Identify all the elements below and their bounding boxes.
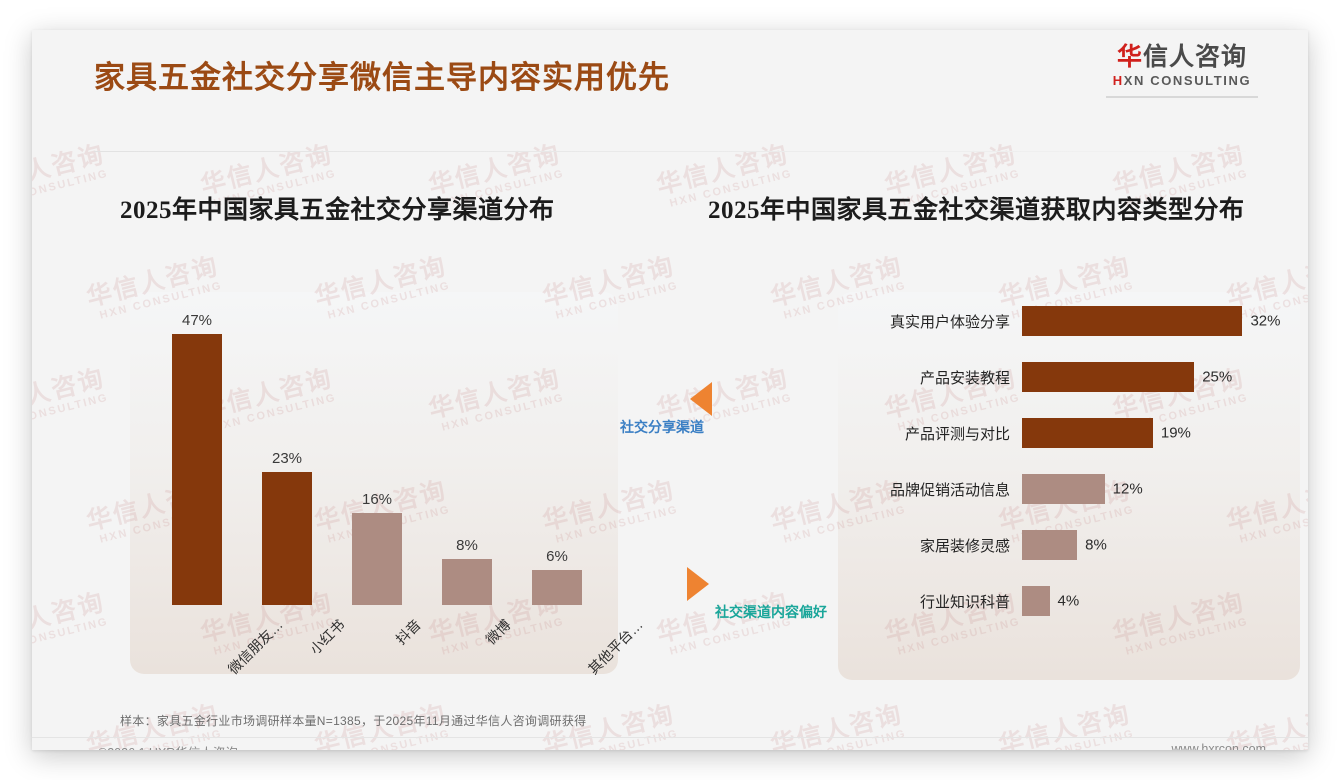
- column-category-label: 其他平台…: [584, 615, 648, 679]
- logo-underline: [1106, 96, 1258, 98]
- bar-row: 产品安装教程25%: [838, 362, 1300, 392]
- bar-track: 32%: [1022, 306, 1300, 336]
- footer-website: www.hxrcon.com: [1172, 742, 1266, 750]
- bar-value-label: 32%: [1250, 313, 1280, 330]
- column-category-label: 小红书: [305, 615, 349, 659]
- logo-en-rest: XN CONSULTING: [1124, 73, 1251, 88]
- column-value-label: 6%: [546, 548, 568, 565]
- column-chart-plot-area: 47%微信朋友…23%小红书16%抖音8%微博6%其他平台…: [152, 285, 602, 605]
- triangle-left-icon: [690, 382, 712, 416]
- column-value-label: 16%: [362, 491, 392, 508]
- column-category-label: 抖音: [391, 615, 425, 649]
- bar-value-label: 19%: [1161, 425, 1191, 442]
- bar-value-label: 8%: [1085, 537, 1107, 554]
- column-bar: [172, 334, 222, 605]
- column-bar-group: 16%: [352, 285, 402, 605]
- page-title: 家具五金社交分享微信主导内容实用优先: [94, 52, 670, 97]
- column-value-label: 8%: [456, 537, 478, 554]
- chart-title-left: 2025年中国家具五金社交分享渠道分布: [120, 190, 555, 226]
- bar-row: 真实用户体验分享32%: [838, 306, 1300, 336]
- footer-divider: [32, 737, 1308, 738]
- logo-cn-rest: 信人咨询: [1143, 43, 1247, 71]
- bar-fill: [1022, 530, 1077, 560]
- watermark-tile: 华信人咨询HXN CONSULTING: [766, 694, 908, 750]
- bar-category-label: 品牌促销活动信息: [838, 479, 1022, 500]
- column-bar: [442, 559, 492, 605]
- column-category-label: 微信朋友…: [224, 615, 288, 679]
- watermark-tile: 华信人咨询HXN CONSULTING: [994, 694, 1136, 750]
- logo-en-highlight: H: [1113, 73, 1124, 88]
- bar-track: 12%: [1022, 474, 1300, 504]
- column-value-label: 47%: [182, 312, 212, 329]
- bar-track: 19%: [1022, 418, 1300, 448]
- column-bar-group: 6%: [532, 285, 582, 605]
- slide-header: 家具五金社交分享微信主导内容实用优先 华信人咨询 HXN CONSULTING: [32, 30, 1308, 120]
- sample-footnote: 样本：家具五金行业市场调研样本量N=1385，于2025年11月通过华信人咨询调…: [120, 712, 586, 729]
- bar-fill: [1022, 586, 1050, 616]
- column-bar-group: 47%: [172, 285, 222, 605]
- bar-track: 4%: [1022, 586, 1300, 616]
- triangle-right-icon: [687, 567, 709, 601]
- bar-fill: [1022, 474, 1105, 504]
- footer-copyright: ©2026.1 HXR华信人咨询: [98, 742, 238, 750]
- company-logo: 华信人咨询 HXN CONSULTING: [1092, 44, 1272, 98]
- horizontal-bar-chart: 真实用户体验分享32%产品安装教程25%产品评测与对比19%品牌促销活动信息12…: [838, 306, 1300, 666]
- watermark-tile: 华信人咨询HXN CONSULTING: [32, 134, 111, 211]
- chart-title-right: 2025年中国家具五金社交渠道获取内容类型分布: [708, 190, 1245, 226]
- bar-track: 8%: [1022, 530, 1300, 560]
- column-bar: [262, 472, 312, 605]
- column-bar-group: 8%: [442, 285, 492, 605]
- bar-category-label: 行业知识科普: [838, 591, 1022, 612]
- column-chart: 47%微信朋友…23%小红书16%抖音8%微博6%其他平台…: [130, 285, 618, 680]
- bar-track: 25%: [1022, 362, 1300, 392]
- logo-cn-highlight: 华: [1117, 43, 1143, 71]
- bar-fill: [1022, 418, 1153, 448]
- bar-value-label: 4%: [1058, 593, 1080, 610]
- column-bar-group: 23%: [262, 285, 312, 605]
- column-category-label: 微博: [481, 615, 515, 649]
- bar-value-label: 25%: [1202, 369, 1232, 386]
- header-divider: [94, 151, 1246, 152]
- watermark-tile: 华信人咨询HXN CONSULTING: [32, 358, 111, 435]
- bar-fill: [1022, 306, 1242, 336]
- column-bar: [352, 513, 402, 605]
- annotation-content-preference-label: 社交渠道内容偏好: [715, 602, 827, 622]
- bar-category-label: 家居装修灵感: [838, 535, 1022, 556]
- bar-category-label: 产品评测与对比: [838, 423, 1022, 444]
- bar-category-label: 产品安装教程: [838, 367, 1022, 388]
- bar-row: 家居装修灵感8%: [838, 530, 1300, 560]
- logo-chinese-text: 华信人咨询: [1092, 44, 1272, 72]
- bar-category-label: 真实用户体验分享: [838, 311, 1022, 332]
- watermark-tile: 华信人咨询HXN CONSULTING: [32, 582, 111, 659]
- column-bar: [532, 570, 582, 605]
- bar-row: 行业知识科普4%: [838, 586, 1300, 616]
- slide-canvas: 华信人咨询HXN CONSULTING华信人咨询HXN CONSULTING华信…: [32, 30, 1308, 750]
- bar-value-label: 12%: [1113, 481, 1143, 498]
- bar-row: 品牌促销活动信息12%: [838, 474, 1300, 504]
- bar-row: 产品评测与对比19%: [838, 418, 1300, 448]
- logo-english-text: HXN CONSULTING: [1092, 73, 1272, 88]
- bar-fill: [1022, 362, 1194, 392]
- annotation-share-channel-label: 社交分享渠道: [620, 417, 704, 437]
- column-value-label: 23%: [272, 450, 302, 467]
